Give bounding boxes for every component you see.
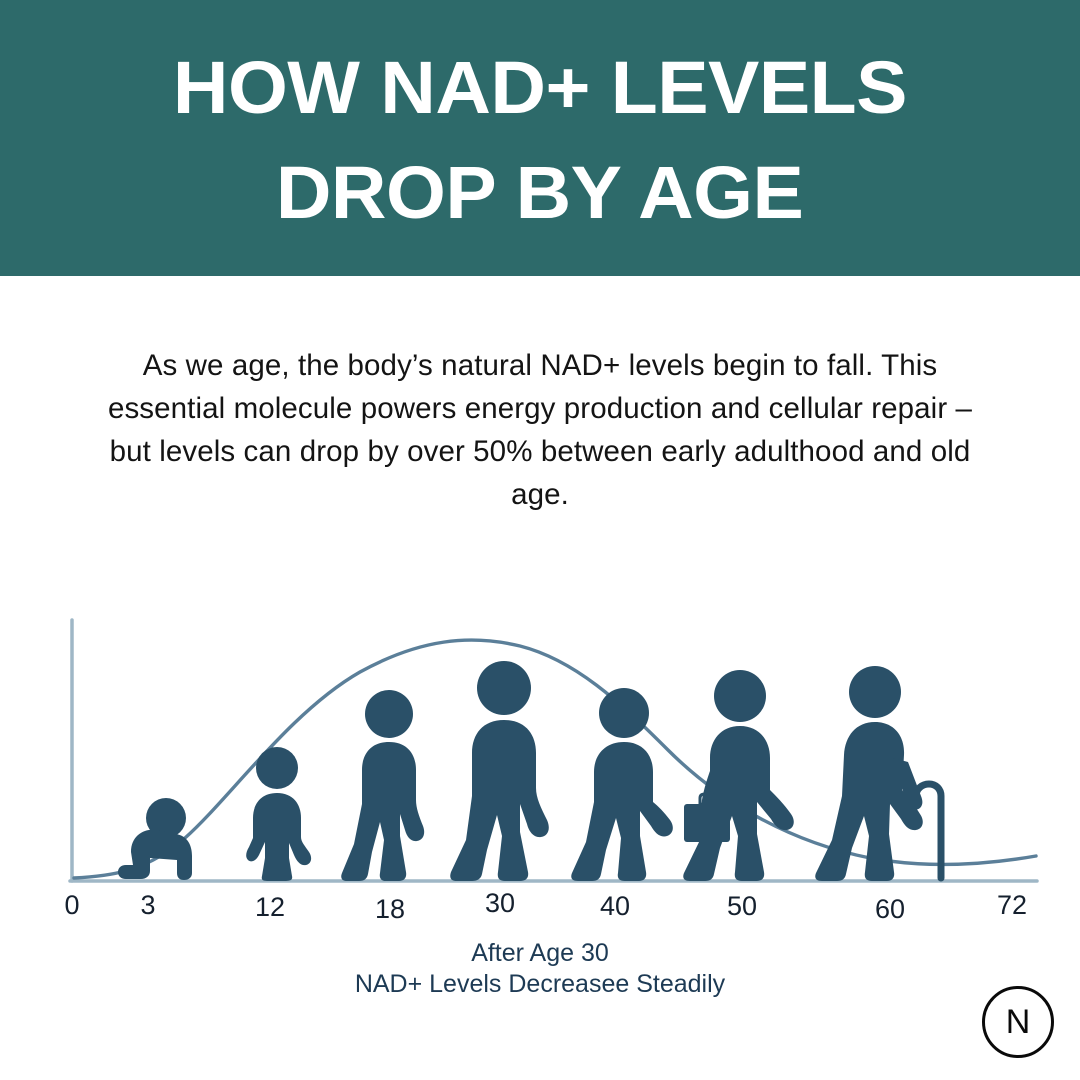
page-title-line-1: HOW NAD+ LEVELS <box>173 35 907 140</box>
tick-label-72: 72 <box>997 890 1027 921</box>
figure-age-50-adult-with-briefcase <box>683 670 794 881</box>
figure-age-30-adult <box>450 661 549 881</box>
tick-label-30: 30 <box>485 888 515 919</box>
intro-paragraph: As we age, the body’s natural NAD+ level… <box>88 344 993 516</box>
tick-label-50: 50 <box>727 891 757 922</box>
figure-group <box>118 661 941 881</box>
header-banner: HOW NAD+ LEVELS DROP BY AGE <box>0 0 1080 276</box>
figure-age-3-crawling-baby <box>118 798 192 880</box>
tick-label-60: 60 <box>875 894 905 925</box>
brand-logo: N <box>982 986 1054 1058</box>
chart-caption: After Age 30 NAD+ Levels Decreasee Stead… <box>0 938 1080 1000</box>
nad-age-chart <box>0 590 1080 920</box>
caption-line-1: After Age 30 <box>0 938 1080 969</box>
figure-age-12-child <box>246 747 311 881</box>
tick-label-3: 3 <box>140 890 155 921</box>
logo-letter-n: N <box>1006 1005 1031 1039</box>
page-title-line-2: DROP BY AGE <box>276 140 803 245</box>
tick-label-0: 0 <box>64 890 79 921</box>
figure-age-18-teen <box>341 690 424 881</box>
figure-age-40-adult <box>571 688 673 881</box>
x-axis-tick-labels: 0 3 12 18 30 40 50 60 72 <box>0 888 1080 928</box>
tick-label-12: 12 <box>255 892 285 923</box>
figure-age-60-elder-with-cane <box>815 666 941 881</box>
tick-label-18: 18 <box>375 894 405 925</box>
tick-label-40: 40 <box>600 891 630 922</box>
caption-line-2: NAD+ Levels Decreasee Steadily <box>0 969 1080 1000</box>
